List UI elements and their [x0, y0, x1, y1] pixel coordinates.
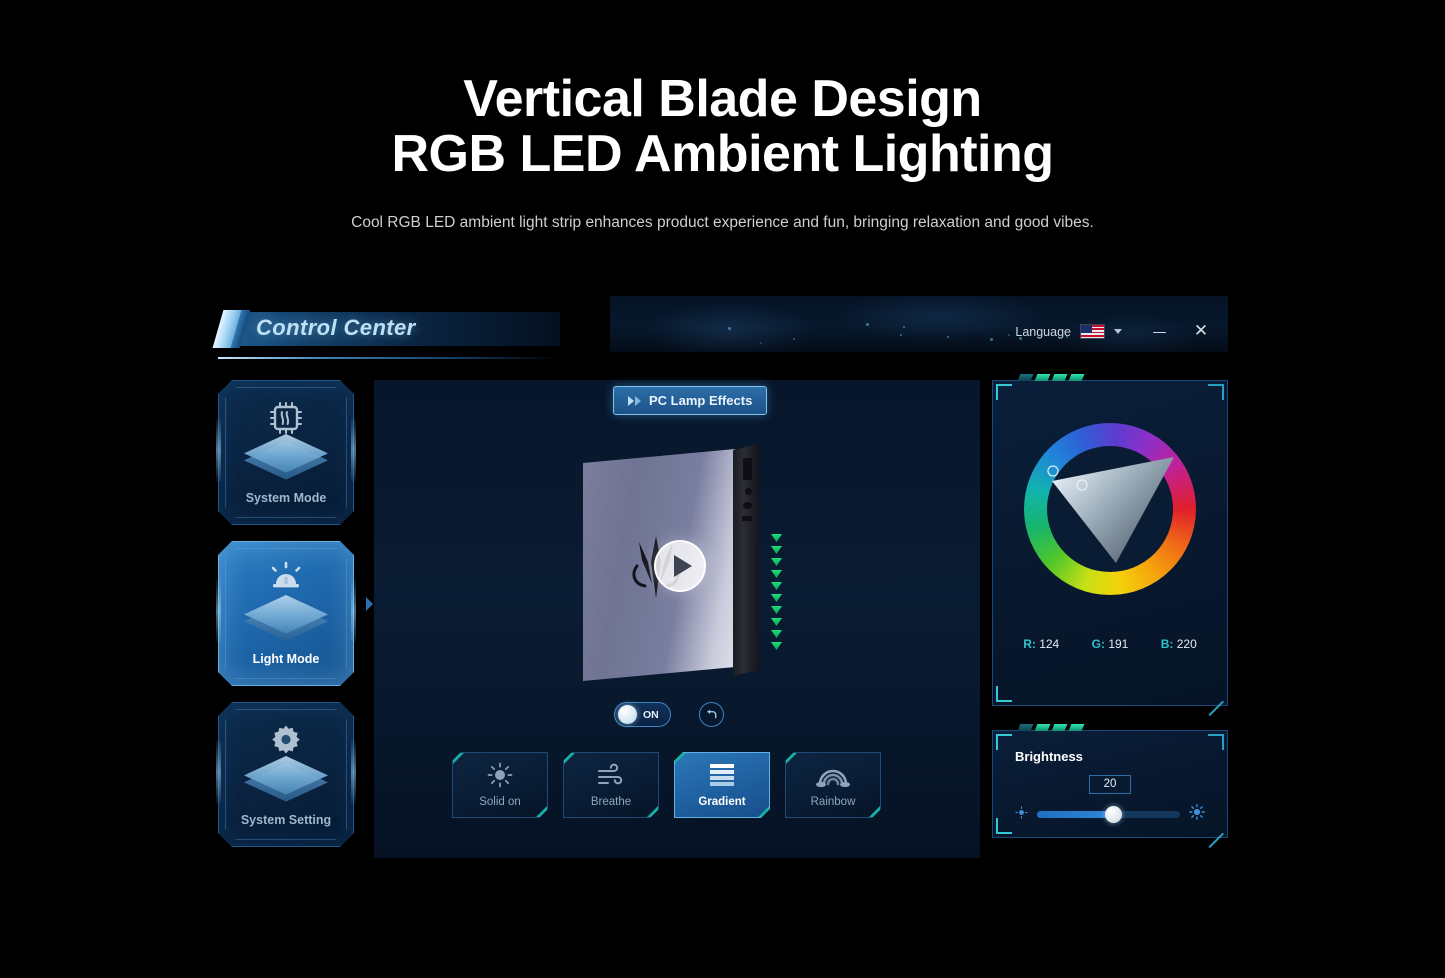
sidebar: System Mode	[218, 380, 358, 863]
brightness-title: Brightness	[1015, 749, 1083, 764]
minimize-icon[interactable]	[1152, 324, 1168, 338]
wind-icon	[564, 761, 658, 789]
toggle-knob	[618, 705, 637, 724]
effect-button-rainbow[interactable]: Rainbow	[785, 752, 881, 818]
sidebar-item-light-mode[interactable]: Light Mode	[218, 541, 354, 686]
sidebar-item-system-setting[interactable]: System Setting	[218, 702, 354, 847]
language-selector[interactable]: Language	[1015, 324, 1122, 339]
sun-icon	[453, 761, 547, 789]
saturation-triangle-icon[interactable]	[1024, 423, 1196, 595]
effect-label: Breathe	[564, 796, 658, 808]
rgb-green-value: 191	[1108, 637, 1128, 651]
rgb-green-key: G:	[1092, 637, 1105, 651]
window-titlebar: Control Center Language ✕	[218, 296, 1228, 358]
rgb-green: G: 191	[1092, 637, 1129, 651]
device-preview	[374, 426, 980, 686]
rgb-readout: R: 124 G: 191 B: 220	[993, 637, 1227, 651]
lamp-icon	[265, 559, 307, 604]
effect-label: Solid on	[453, 796, 547, 808]
right-panels: R: 124 G: 191 B: 220 Brightness 20	[992, 380, 1228, 838]
control-center-window: Control Center Language ✕	[218, 296, 1228, 858]
tab-label: PC Lamp Effects	[649, 393, 752, 408]
rgb-red: R: 124	[1023, 637, 1059, 651]
app-logo: Control Center	[218, 312, 560, 348]
sidebar-item-label: System Mode	[218, 491, 354, 505]
gear-icon	[266, 720, 306, 765]
power-toggle[interactable]: ON	[614, 702, 671, 727]
chevron-down-icon[interactable]	[1114, 329, 1122, 334]
small-sun-icon	[1015, 806, 1028, 824]
brightness-panel: Brightness 20	[992, 730, 1228, 838]
panel-stripe-decoration	[1019, 724, 1083, 731]
toggle-label: ON	[643, 709, 659, 721]
app-title: Control Center	[256, 315, 416, 341]
sidebar-item-label: Light Mode	[218, 652, 354, 666]
hue-selector-icon	[1048, 466, 1058, 476]
effect-button-gradient[interactable]: Gradient	[674, 752, 770, 818]
language-label: Language	[1015, 325, 1071, 339]
rgb-red-value: 124	[1039, 637, 1059, 651]
cpu-chip-icon	[266, 398, 306, 443]
titlebar-background	[610, 296, 1228, 352]
sidebar-item-label: System Setting	[218, 813, 354, 827]
effect-label: Gradient	[675, 796, 769, 808]
effect-label: Rainbow	[786, 796, 880, 808]
app-logo-underline	[218, 357, 558, 359]
tab-pc-lamp-effects[interactable]: PC Lamp Effects	[613, 386, 767, 415]
sidebar-item-system-mode[interactable]: System Mode	[218, 380, 354, 525]
play-button-icon[interactable]	[654, 540, 706, 592]
color-picker-panel: R: 124 G: 191 B: 220	[992, 380, 1228, 706]
panel-stripe-decoration	[1019, 374, 1083, 381]
up-triangle-icon	[675, 824, 769, 833]
brightness-slider-fill	[1037, 811, 1113, 818]
close-icon[interactable]: ✕	[1192, 322, 1210, 340]
double-chevron-right-icon	[628, 396, 641, 406]
main-content: PC Lamp Effects	[374, 380, 980, 858]
rgb-blue-key: B:	[1161, 637, 1174, 651]
large-sun-icon	[1189, 804, 1205, 825]
power-controls: ON	[374, 702, 980, 736]
page-title-line-2: RGB LED Ambient Lighting	[0, 127, 1445, 182]
us-flag-icon	[1080, 324, 1105, 339]
rgb-red-key: R:	[1023, 637, 1036, 651]
undo-reset-icon[interactable]	[699, 702, 724, 727]
brightness-slider-handle[interactable]	[1105, 806, 1122, 823]
effect-button-breathe[interactable]: Breathe	[563, 752, 659, 818]
brightness-value: 20	[1089, 775, 1131, 794]
stacked-bars-icon	[675, 761, 769, 789]
effect-buttons: Solid on Breathe	[452, 752, 902, 818]
brightness-slider[interactable]	[1037, 811, 1180, 818]
effect-button-solid-on[interactable]: Solid on	[452, 752, 548, 818]
page-title: Vertical Blade Design RGB LED Ambient Li…	[0, 72, 1445, 182]
rgb-blue: B: 220	[1161, 637, 1197, 651]
hero-section: Vertical Blade Design RGB LED Ambient Li…	[0, 0, 1445, 232]
rainbow-icon	[786, 761, 880, 789]
page-subtitle: Cool RGB LED ambient light strip enhance…	[0, 214, 1445, 232]
page-title-line-1: Vertical Blade Design	[463, 70, 981, 128]
rgb-blue-value: 220	[1177, 637, 1197, 651]
